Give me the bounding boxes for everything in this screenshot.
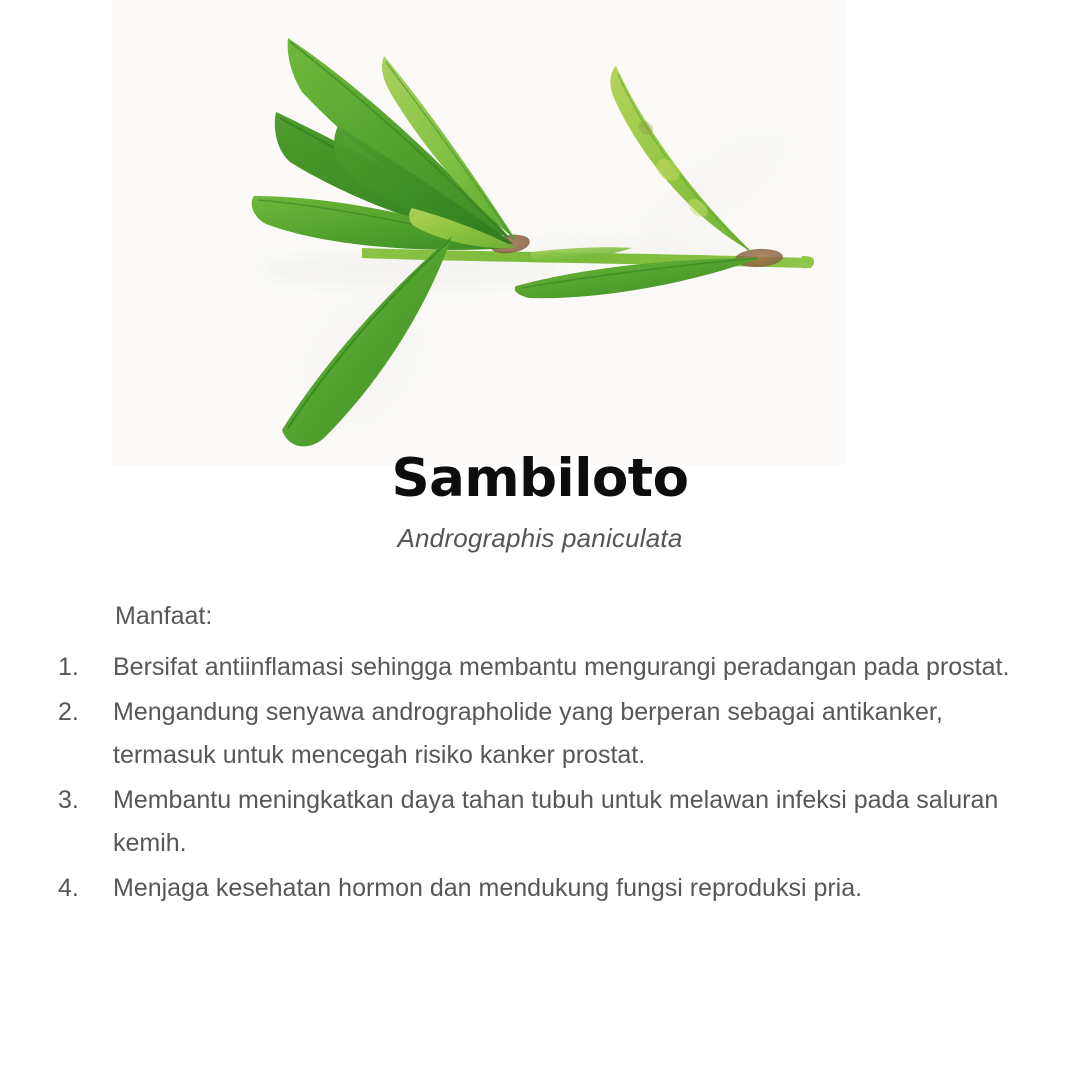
- list-item-number: 3.: [0, 779, 113, 822]
- list-item: 4. Menjaga kesehatan hormon dan mendukun…: [0, 867, 1080, 910]
- scientific-name: Andrographis paniculata: [0, 523, 1080, 554]
- plant-photo: [112, 0, 845, 465]
- plant-photo-card: [112, 0, 845, 465]
- stem-tip: [802, 256, 814, 268]
- benefits-section: Manfaat: 1. Bersifat antiinflamasi sehin…: [0, 598, 1080, 912]
- list-item-text: Menjaga kesehatan hormon dan mendukung f…: [113, 867, 1028, 910]
- benefits-label: Manfaat:: [115, 598, 1080, 634]
- list-item: 3. Membantu meningkatkan daya tahan tubu…: [0, 779, 1080, 865]
- page-title: Sambiloto: [0, 452, 1080, 505]
- list-item-text: Mengandung senyawa andrographolide yang …: [113, 691, 1028, 777]
- list-item-text: Bersifat antiinflamasi sehingga membantu…: [113, 646, 1028, 689]
- list-item-text: Membantu meningkatkan daya tahan tubuh u…: [113, 779, 1028, 865]
- plant-illustration: [112, 0, 845, 465]
- list-item-number: 1.: [0, 646, 113, 689]
- list-item: 2. Mengandung senyawa andrographolide ya…: [0, 691, 1080, 777]
- list-item-number: 2.: [0, 691, 113, 734]
- title-block: Sambiloto Andrographis paniculata: [0, 452, 1080, 554]
- list-item: 1. Bersifat antiinflamasi sehingga memba…: [0, 646, 1080, 689]
- list-item-number: 4.: [0, 867, 113, 910]
- benefits-list: 1. Bersifat antiinflamasi sehingga memba…: [0, 646, 1080, 910]
